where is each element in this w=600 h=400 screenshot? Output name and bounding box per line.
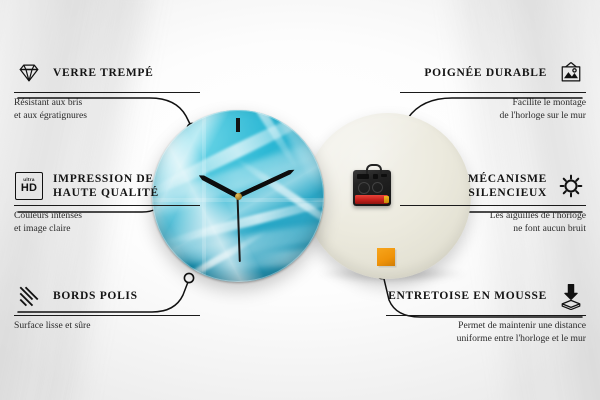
mechanism-dial-ring [372, 182, 383, 193]
feature-description: Résistant aux bris et aux égratignures [14, 97, 200, 123]
clock-center-cap [235, 193, 242, 200]
mechanism-detail [381, 174, 387, 177]
polished-edges-icon [14, 281, 44, 311]
feature-divider [400, 205, 586, 206]
hd-badge: ultra HD [15, 172, 43, 200]
mechanism-detail [373, 174, 378, 179]
clock-tick [156, 139, 165, 151]
battery-positive-tip [384, 196, 389, 203]
feature-bords-polis: BORDS POLIS Surface lisse et sûre [14, 281, 200, 333]
feature-description: Surface lisse et sûre [14, 320, 200, 333]
feature-divider [386, 315, 586, 316]
feature-verre-trempe: VERRE TREMPÉ Résistant aux bris et aux é… [14, 58, 200, 123]
feature-title: POIGNÉE DURABLE [424, 66, 547, 80]
feature-divider [14, 315, 200, 316]
picture-frame-hanger-icon [556, 58, 586, 88]
feature-poignee-durable: POIGNÉE DURABLE Facilite le montage de l… [400, 58, 586, 123]
feature-header: ultra HD IMPRESSION DE HAUTE QUALITÉ [14, 171, 200, 201]
feature-title: VERRE TREMPÉ [53, 66, 154, 80]
feature-divider [14, 92, 200, 93]
feature-header: POIGNÉE DURABLE [400, 58, 586, 88]
feature-description: Permet de maintenir une distance uniform… [386, 320, 586, 346]
feature-description: Couleurs intenses et image claire [14, 210, 200, 236]
feature-header: MÉCANISME SILENCIEUX [400, 171, 586, 201]
clock-mechanism [353, 170, 391, 206]
feature-title: IMPRESSION DE HAUTE QUALITÉ [53, 172, 200, 200]
feature-title: ENTRETOISE EN MOUSSE [388, 289, 547, 303]
feature-description: Les aiguilles de l'horloge ne font aucun… [400, 210, 586, 236]
mechanism-detail [357, 174, 369, 179]
feature-impression-hd: ultra HD IMPRESSION DE HAUTE QUALITÉ Cou… [14, 171, 200, 236]
foam-spacer [377, 248, 395, 266]
gear-icon [556, 171, 586, 201]
feature-title: BORDS POLIS [53, 289, 138, 303]
feature-mecanisme-silencieux: MÉCANISME SILENCIEUX Les aiguilles de l'… [400, 171, 586, 236]
battery [355, 195, 388, 204]
diamond-icon [14, 58, 44, 88]
feature-entretoise-mousse: ENTRETOISE EN MOUSSE Permet de maintenir… [386, 281, 586, 346]
feature-description: Facilite le montage de l'horloge sur le … [400, 97, 586, 123]
ultra-hd-badge-icon: ultra HD [14, 171, 44, 201]
feature-divider [14, 205, 200, 206]
foam-spacer-arrow-icon [556, 281, 586, 311]
feature-header: BORDS POLIS [14, 281, 200, 311]
feature-divider [400, 92, 586, 93]
infographic-canvas: VERRE TREMPÉ Résistant aux bris et aux é… [0, 0, 600, 400]
mechanism-dial-ring [358, 182, 370, 194]
feature-header: ENTRETOISE EN MOUSSE [386, 281, 586, 311]
feature-header: VERRE TREMPÉ [14, 58, 200, 88]
feature-title: MÉCANISME SILENCIEUX [400, 172, 547, 200]
clock-tick [236, 118, 239, 132]
hd-badge-big-text: HD [21, 183, 37, 194]
